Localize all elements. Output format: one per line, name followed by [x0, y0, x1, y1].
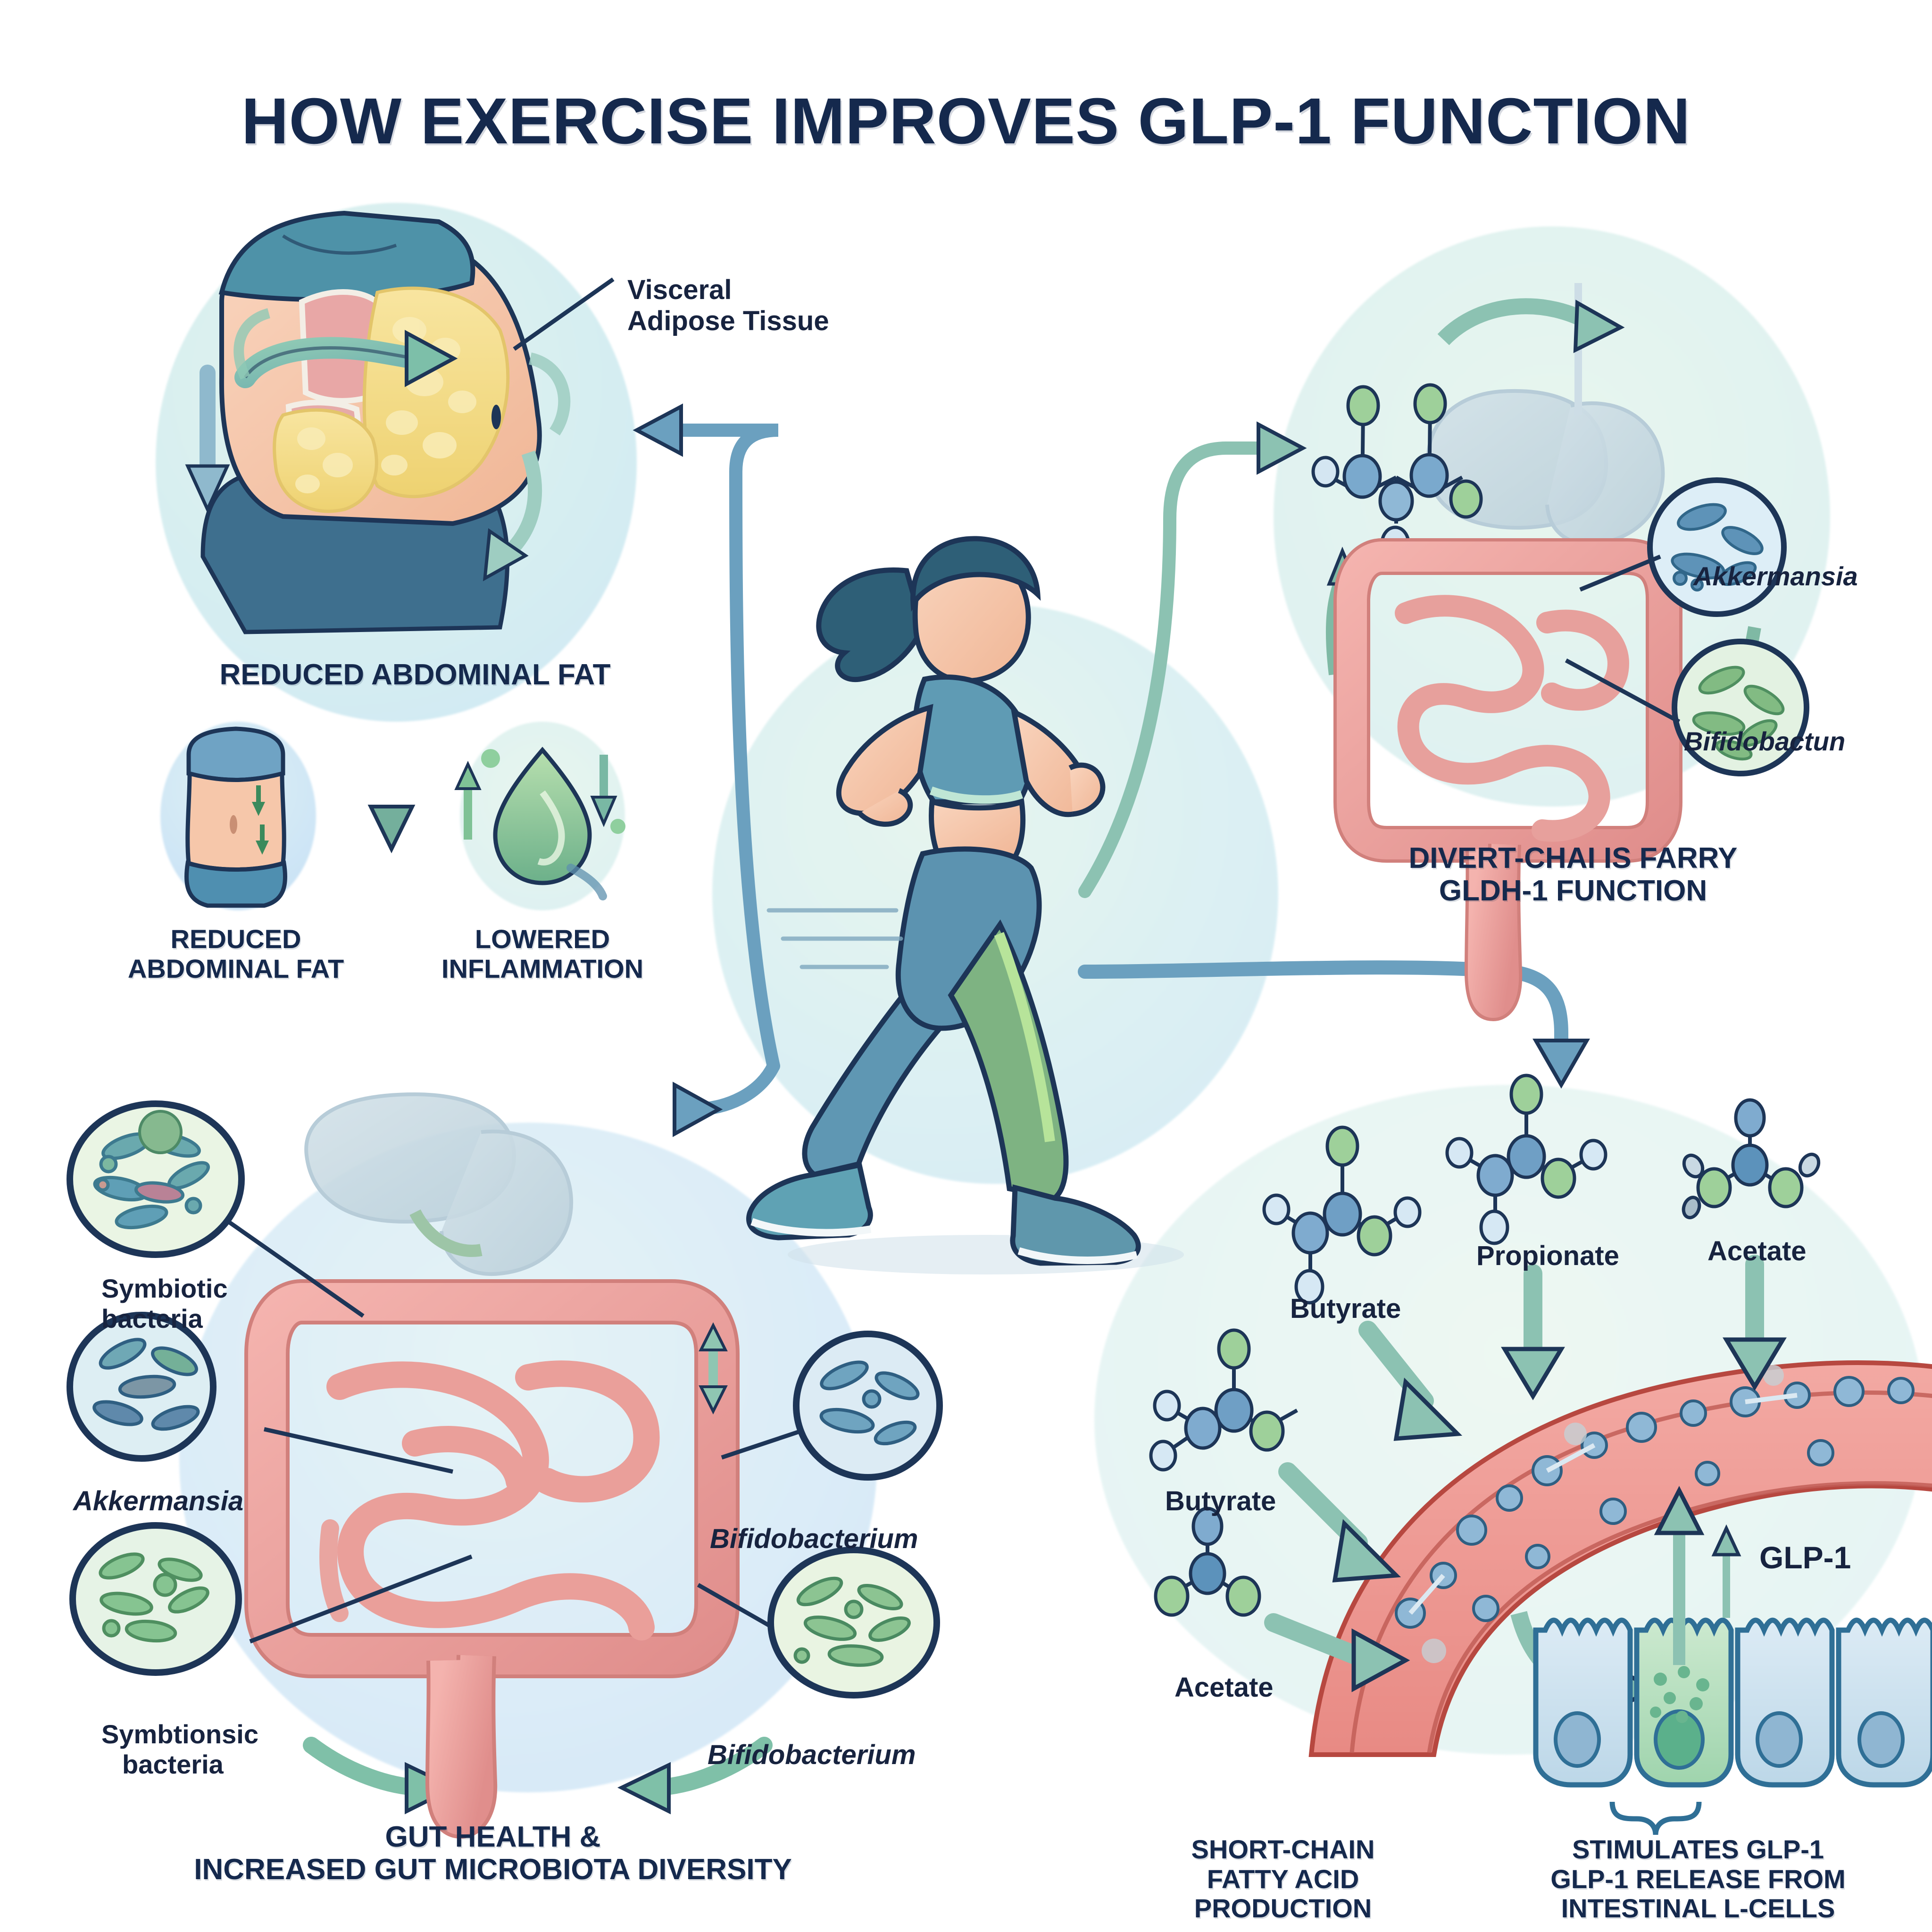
sub2-line2: INFLAMMATION: [396, 954, 689, 984]
molecule-butyrate-2: [1151, 1330, 1297, 1470]
sub1-line1: REDUCED: [80, 924, 391, 954]
visceral-adipose-callout: Visceral Adipose Tissue: [627, 275, 829, 337]
tr-caption-line1: DIVERT-CHAI IS FARRY: [1311, 842, 1835, 874]
bl-caption-line2: INCREASED GUT MICROBIOTA DIVERSITY: [61, 1853, 924, 1886]
label-akkermansia-bottom: Akkermansia: [73, 1486, 243, 1517]
label-acetate-1: Acetate: [1707, 1236, 1807, 1267]
label-butyrate-1: Butyrate: [1290, 1293, 1401, 1324]
caption-sub-lowered-inflammation: LOWERED INFLAMMATION: [396, 924, 689, 983]
bacteria-circle-green-bl: [73, 1525, 239, 1673]
label-akkermansia-top: Akkermansia: [1693, 561, 1858, 591]
molecule-propionate: [1447, 1075, 1606, 1243]
molecule-butyrate-1: [1264, 1127, 1420, 1303]
caption-gut-health: GUT HEALTH & INCREASED GUT MICROBIOTA DI…: [61, 1821, 924, 1886]
label-bifidobactun: Bifidobactun: [1684, 726, 1845, 757]
bl-caption-line1: GUT HEALTH &: [61, 1821, 924, 1853]
belly-icon-art: [186, 729, 285, 906]
caption-short-chain-fatty-acid: SHORT-CHAIN FATTY ACID PRODUCTION: [1108, 1835, 1457, 1924]
sub-icons-down-arrow: [371, 736, 412, 849]
br-left-line1: SHORT-CHAIN: [1108, 1835, 1457, 1865]
symbtionsic-line1: Symbtionsic: [101, 1719, 258, 1749]
bacteria-circle-blue-bl: [796, 1334, 940, 1477]
molecule-acetate-2: [1156, 1508, 1259, 1615]
caption-sub-reduced-abdominal-fat: REDUCED ABDOMINAL FAT: [80, 924, 391, 983]
label-symbiotic-bacteria: Symbiotic bacteria: [101, 1274, 228, 1334]
br-left-line3: PRODUCTION: [1108, 1894, 1457, 1924]
bacteria-circle-spiky: [70, 1315, 213, 1458]
visceral-adipose-line1: Visceral: [627, 275, 829, 306]
label-butyrate-2: Butyrate: [1165, 1486, 1276, 1517]
label-propionate: Propionate: [1476, 1241, 1619, 1272]
bacteria-circle-mixed: [70, 1104, 241, 1255]
bacteria-circle-blue: [1650, 480, 1784, 614]
tr-caption-line2: GLDH-1 FUNCTION: [1311, 874, 1835, 907]
caption-reduced-abdominal-fat: REDUCED ABDOMINAL FAT: [156, 658, 675, 691]
droplet-icon-art: [457, 749, 625, 896]
br-right-line3: INTESTINAL L-CELLS: [1476, 1894, 1920, 1924]
abdomen-illustration: [188, 213, 613, 632]
symbtionsic-line2: bacteria: [101, 1749, 258, 1780]
label-glp1: GLP-1: [1759, 1540, 1851, 1575]
bacteria-circle-green2-bl: [771, 1550, 937, 1695]
bottom-right-scfa-illustration: [1151, 1075, 1932, 1835]
visceral-adipose-line2: Adipose Tissue: [627, 306, 829, 337]
symbiotic-line2: bacteria: [101, 1304, 228, 1334]
caption-divert-chai-gldh: DIVERT-CHAI IS FARRY GLDH-1 FUNCTION: [1311, 842, 1835, 908]
br-right-line2: GLP-1 RELEASE FROM: [1476, 1865, 1920, 1894]
sub2-line1: LOWERED: [396, 924, 689, 954]
running-woman-illustration: [749, 539, 1184, 1274]
caption-stimulates-glp1-release: STIMULATES GLP-1 GLP-1 RELEASE FROM INTE…: [1476, 1835, 1920, 1924]
label-bifidobacterium-upper: Bifidobacterium: [710, 1524, 918, 1555]
label-symbtionsic-bacteria: Symbtionsic bacteria: [101, 1719, 258, 1780]
br-left-line2: FATTY ACID: [1108, 1865, 1457, 1894]
sub1-line2: ABDOMINAL FAT: [80, 954, 391, 984]
br-right-line1: STIMULATES GLP-1: [1476, 1835, 1920, 1865]
molecule-acetate-1: [1680, 1100, 1822, 1220]
symbiotic-line1: Symbiotic: [101, 1274, 228, 1304]
label-acetate-2: Acetate: [1174, 1672, 1274, 1703]
infographic-canvas: HOW EXERCISE IMPROVES GLP-1 FUNCTION: [0, 0, 1932, 1932]
label-bifidobacterium-lower: Bifidobacterium: [708, 1740, 916, 1771]
